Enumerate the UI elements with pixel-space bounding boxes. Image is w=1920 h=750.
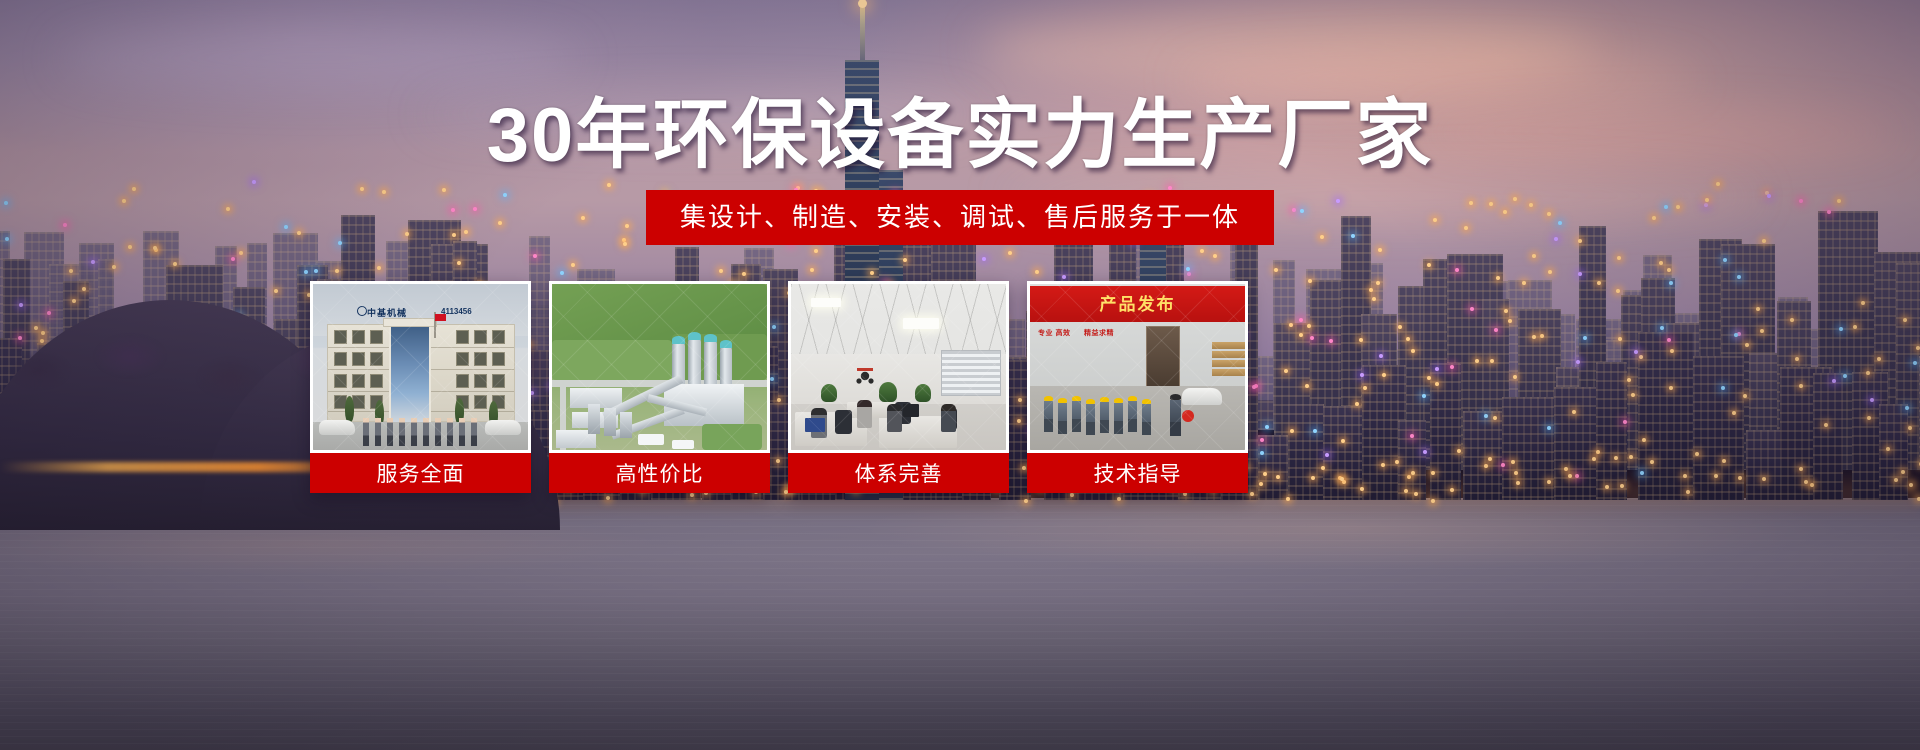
photo-company-sign: 中基机械 bbox=[367, 306, 407, 319]
river-water bbox=[0, 498, 1920, 750]
feature-card[interactable]: 中基机械 4113456 bbox=[310, 281, 531, 493]
feature-card-list: 中基机械 4113456 bbox=[310, 281, 1260, 493]
card-photo-workshop-workers: 产品发布 专业 高效 精益求精 bbox=[1030, 284, 1245, 450]
feature-card[interactable]: 高性价比 bbox=[549, 281, 770, 493]
card-caption: 技术指导 bbox=[1027, 453, 1248, 493]
card-photo-office-interior bbox=[791, 284, 1006, 450]
card-caption: 高性价比 bbox=[549, 453, 770, 493]
hero-banner: 30年环保设备实力生产厂家 集设计、制造、安装、调试、售后服务于一体 bbox=[0, 0, 1920, 750]
page-title: 30年环保设备实力生产厂家 bbox=[0, 98, 1920, 174]
card-photo-company-building: 中基机械 4113456 bbox=[313, 284, 528, 450]
subtitle-container: 集设计、制造、安装、调试、售后服务于一体 bbox=[0, 190, 1920, 245]
feature-card[interactable]: 产品发布 专业 高效 精益求精 bbox=[1027, 281, 1248, 493]
company-logo-icon bbox=[357, 306, 367, 316]
photo-right-sign: 精益求精 bbox=[1084, 328, 1114, 338]
card-caption: 体系完善 bbox=[788, 453, 1009, 493]
photo-banner-text: 产品发布 bbox=[1030, 284, 1245, 320]
feature-card[interactable]: 体系完善 bbox=[788, 281, 1009, 493]
photo-left-sign: 专业 高效 bbox=[1038, 328, 1070, 338]
wall-decal-icon bbox=[853, 366, 877, 388]
subtitle-badge: 集设计、制造、安装、调试、售后服务于一体 bbox=[646, 190, 1274, 245]
card-caption: 服务全面 bbox=[310, 453, 531, 493]
card-photo-industrial-plant bbox=[552, 284, 767, 450]
